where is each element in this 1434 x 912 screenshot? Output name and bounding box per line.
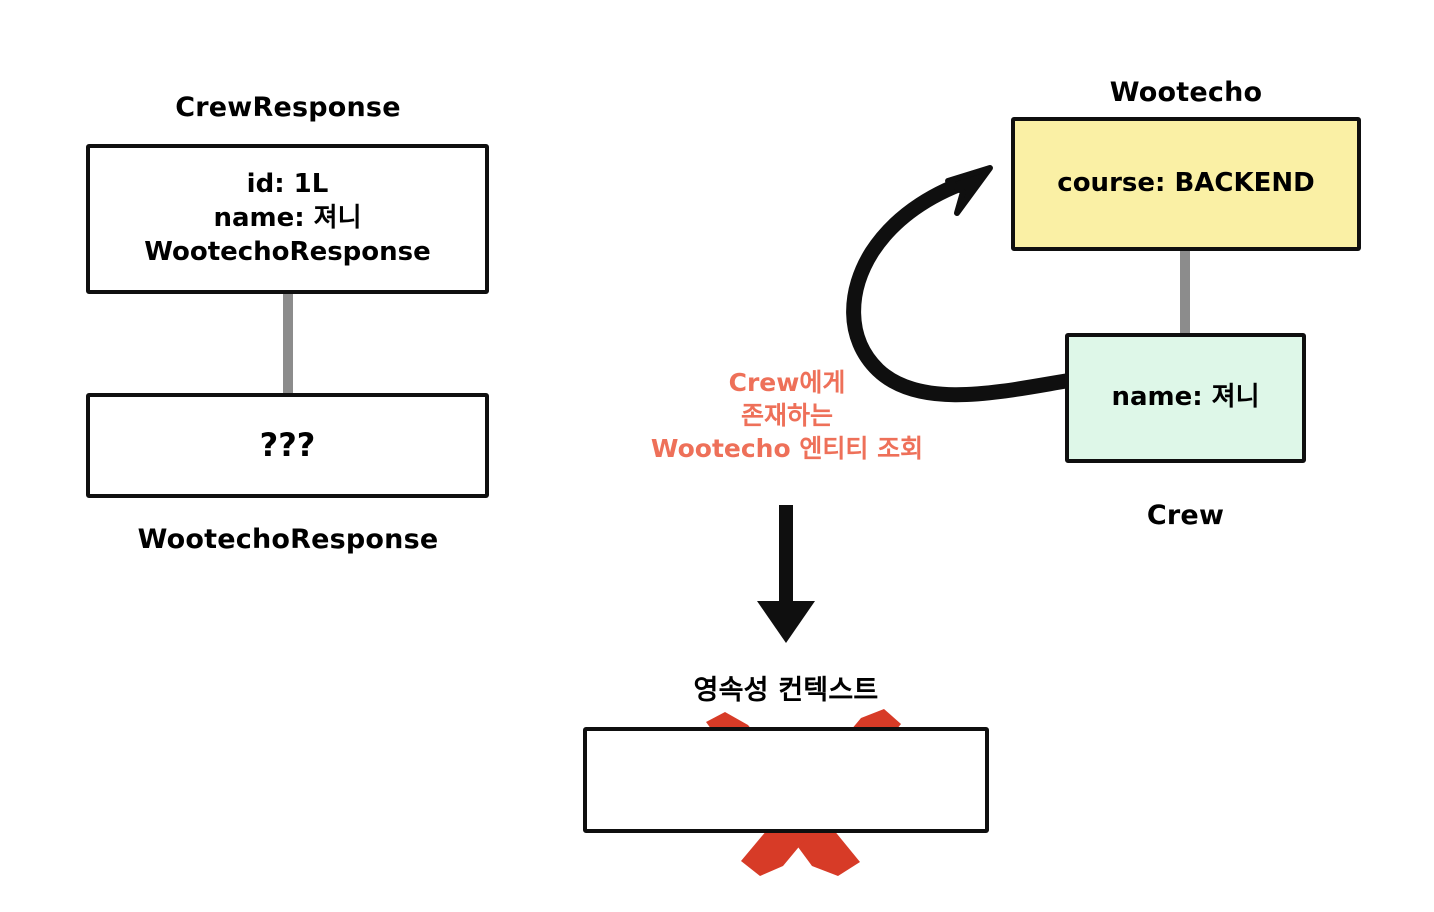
- lookup-note: Crew에게 존재하는 Wootecho 엔티티 조회: [598, 366, 976, 465]
- crew-entity-label: Crew: [1065, 500, 1306, 531]
- persistence-context-box[interactable]: [583, 727, 989, 833]
- crew-response-body: id: 1L name: 져니 WootechoResponse: [136, 168, 439, 269]
- wootecho-entity-body: course: BACKEND: [1049, 167, 1322, 201]
- crew-response-box[interactable]: id: 1L name: 져니 WootechoResponse: [86, 144, 489, 294]
- wootecho-response-label: WootechoResponse: [86, 524, 490, 555]
- wootecho-entity-label: Wootecho: [1011, 77, 1361, 108]
- persistence-context-label: 영속성 컨텍스트: [583, 668, 989, 707]
- edge-wootecho-entity-to-crew-entity: [1180, 250, 1190, 334]
- crew-entity-body: name: 져니: [1103, 381, 1267, 415]
- wootecho-response-box[interactable]: ???: [86, 393, 489, 498]
- wootecho-entity-box[interactable]: course: BACKEND: [1011, 117, 1361, 251]
- wootecho-response-body: ???: [252, 425, 324, 467]
- edge-note-to-persistence-context: [757, 505, 815, 643]
- crew-response-label: CrewResponse: [86, 92, 490, 123]
- edge-crew-response-to-wootecho-response: [283, 294, 293, 394]
- crew-entity-box[interactable]: name: 져니: [1065, 333, 1306, 463]
